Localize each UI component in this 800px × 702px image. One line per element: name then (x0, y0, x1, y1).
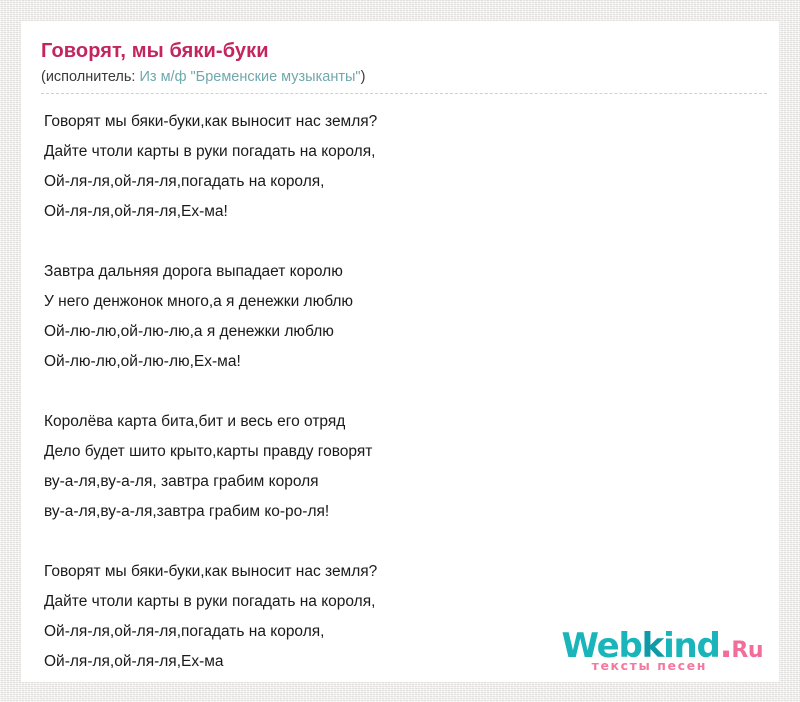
performer-prefix-label: (исполнитель: (41, 69, 135, 85)
lyrics-line: ву-а-ля,ву-а-ля, завтра грабим короля (44, 467, 759, 497)
lyrics-line: ву-а-ля,ву-а-ля,завтра грабим ко-ро-ля! (44, 497, 759, 527)
song-card-content: Говорят, мы бяки-буки (исполнитель: Из м… (21, 21, 779, 682)
lyrics-line: Ой-ля-ля,ой-ля-ля,Ех-ма! (44, 197, 759, 227)
lyrics-line: У него денжонок много,а я денежки люблю (44, 287, 759, 317)
lyrics-line: Ой-ля-ля,ой-ля-ля,погадать на короля, (44, 167, 759, 197)
lyrics-line: Говорят мы бяки-буки,как выносит нас зем… (44, 557, 759, 587)
performer-line: (исполнитель: Из м/ф "Бременские музыкан… (41, 68, 759, 87)
lyrics-line: Говорят мы бяки-буки,как выносит нас зем… (44, 107, 759, 137)
logo-text-ru: Ru (731, 638, 763, 663)
lyrics-line: ву-а-ля,ву-а-ля, завтра грабим короля (44, 677, 759, 682)
logo-text-dot: . (720, 626, 732, 666)
lyrics-stanza: Завтра дальняя дорога выпадает королюУ н… (44, 257, 759, 377)
site-logo[interactable]: Webkind.Ru тексты песен (562, 628, 763, 673)
lyrics-line: Королёва карта бита,бит и весь его отряд (44, 407, 759, 437)
lyrics-line: Ой-лю-лю,ой-лю-лю,Ех-ма! (44, 347, 759, 377)
page-title: Говорят, мы бяки-буки (41, 38, 759, 64)
lyrics-stanza: Говорят мы бяки-буки,как выносит нас зем… (44, 107, 759, 227)
performer-link[interactable]: Из м/ф "Бременские музыканты" (139, 69, 360, 85)
lyrics-stanza: Королёва карта бита,бит и весь его отряд… (44, 407, 759, 527)
performer-suffix-label: ) (361, 69, 366, 85)
lyrics-body: Говорят мы бяки-буки,как выносит нас зем… (41, 94, 759, 682)
lyrics-line: Дайте чтоли карты в руки погадать на кор… (44, 137, 759, 167)
song-card: Говорят, мы бяки-буки (исполнитель: Из м… (21, 21, 779, 682)
lyrics-line: Завтра дальняя дорога выпадает королю (44, 257, 759, 287)
lyrics-line: Дайте чтоли карты в руки погадать на кор… (44, 587, 759, 617)
lyrics-line: Ой-лю-лю,ой-лю-лю,а я денежки люблю (44, 317, 759, 347)
lyrics-line: Дело будет шито крыто,карты правду говор… (44, 437, 759, 467)
